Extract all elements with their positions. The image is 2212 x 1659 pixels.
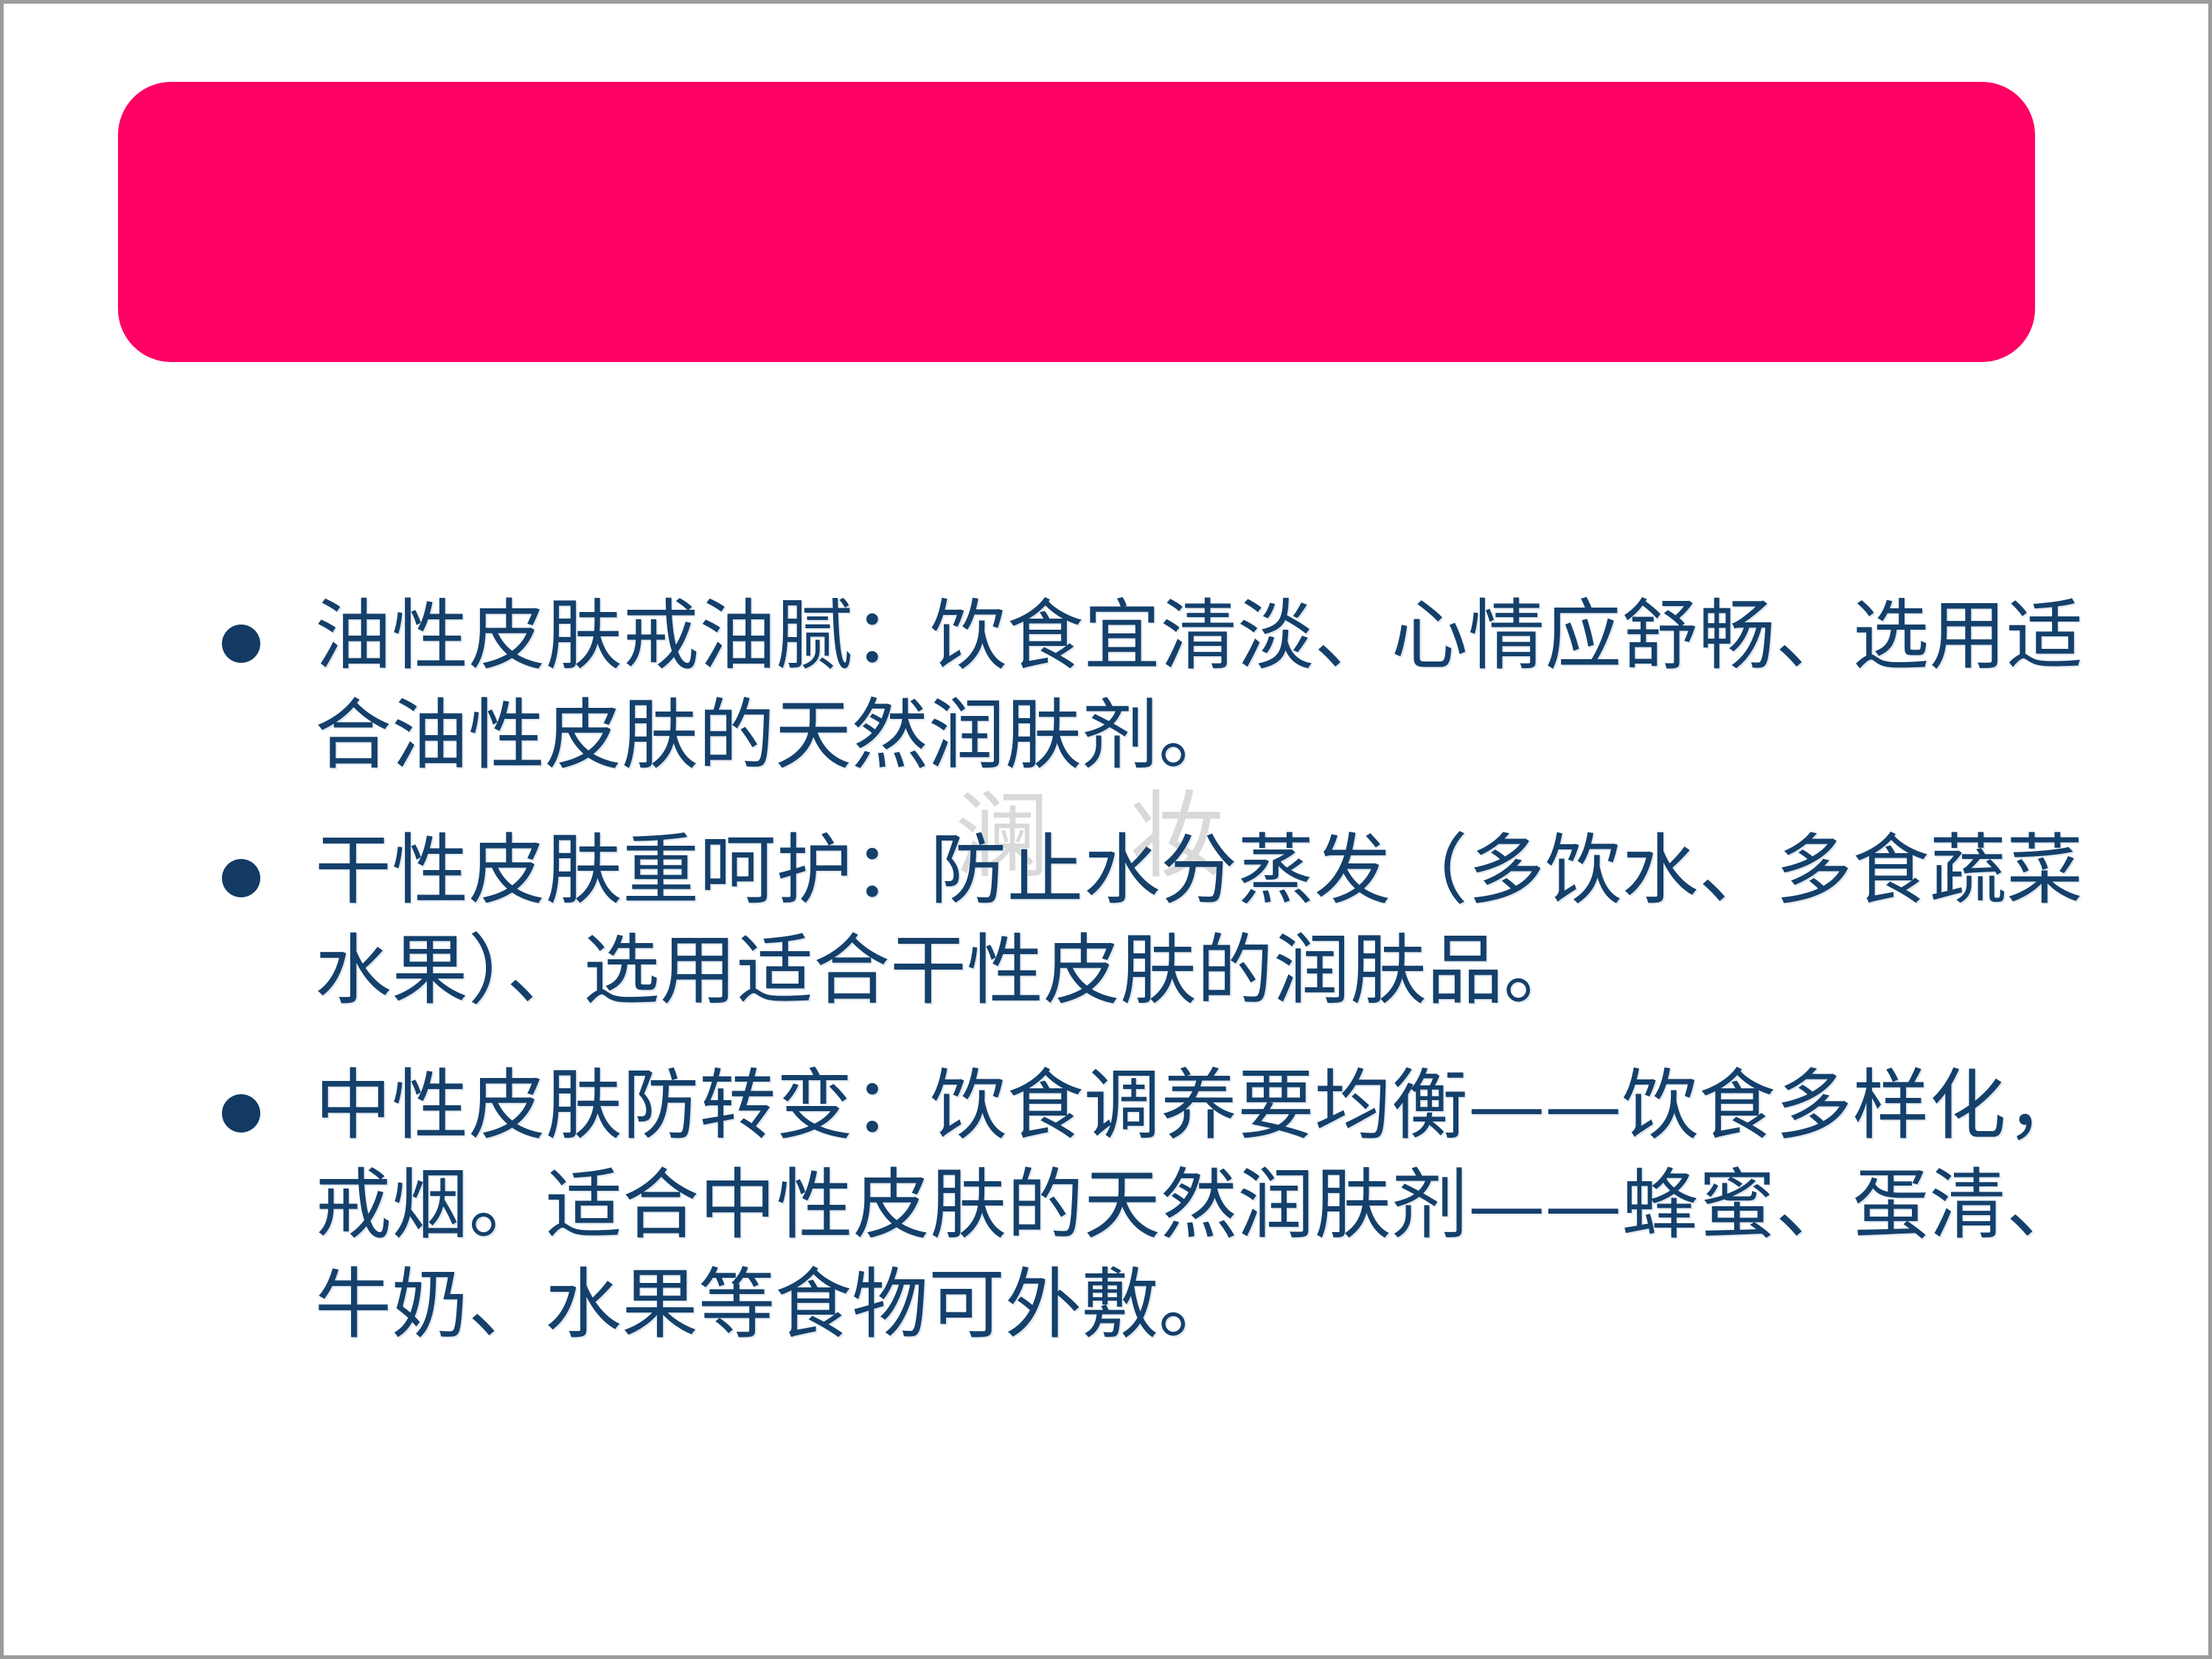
bullet-item-oily-skin[interactable]: 油性皮肤戒油腻：饮食宜清淡、心情应舒畅、选用适合油性皮肤的天然润肤剂。 <box>218 586 2083 785</box>
title-banner[interactable] <box>118 82 2035 362</box>
title-banner-text <box>118 82 2035 362</box>
bullet-item-label: 中性皮肤防转变：饮食调养要均衡——饮食多样化，戒烟。适合中性皮肤的天然润肤剂——… <box>315 1056 2083 1355</box>
bullet-item-label: 油性皮肤戒油腻：饮食宜清淡、心情应舒畅、选用适合油性皮肤的天然润肤剂。 <box>315 586 2083 785</box>
presentation-slide: 澜 妆 油性皮肤戒油腻：饮食宜清淡、心情应舒畅、选用适合油性皮肤的天然润肤剂。 … <box>0 0 2212 1659</box>
bullet-item-neutral-skin[interactable]: 中性皮肤防转变：饮食调养要均衡——饮食多样化，戒烟。适合中性皮肤的天然润肤剂——… <box>218 1056 2083 1355</box>
bullet-item-dry-skin[interactable]: 干性皮肤重呵护：防止水分蒸发（多饮水、多食蔬菜水果）、选用适合干性皮肤的润肤品。 <box>218 821 2083 1020</box>
bullet-item-label: 干性皮肤重呵护：防止水分蒸发（多饮水、多食蔬菜水果）、选用适合干性皮肤的润肤品。 <box>315 821 2083 1020</box>
bullet-list: 油性皮肤戒油腻：饮食宜清淡、心情应舒畅、选用适合油性皮肤的天然润肤剂。 干性皮肤… <box>218 586 2083 1390</box>
bullet-point-icon <box>222 1094 260 1133</box>
bullet-point-icon <box>222 625 260 663</box>
bullet-point-icon <box>222 859 260 897</box>
